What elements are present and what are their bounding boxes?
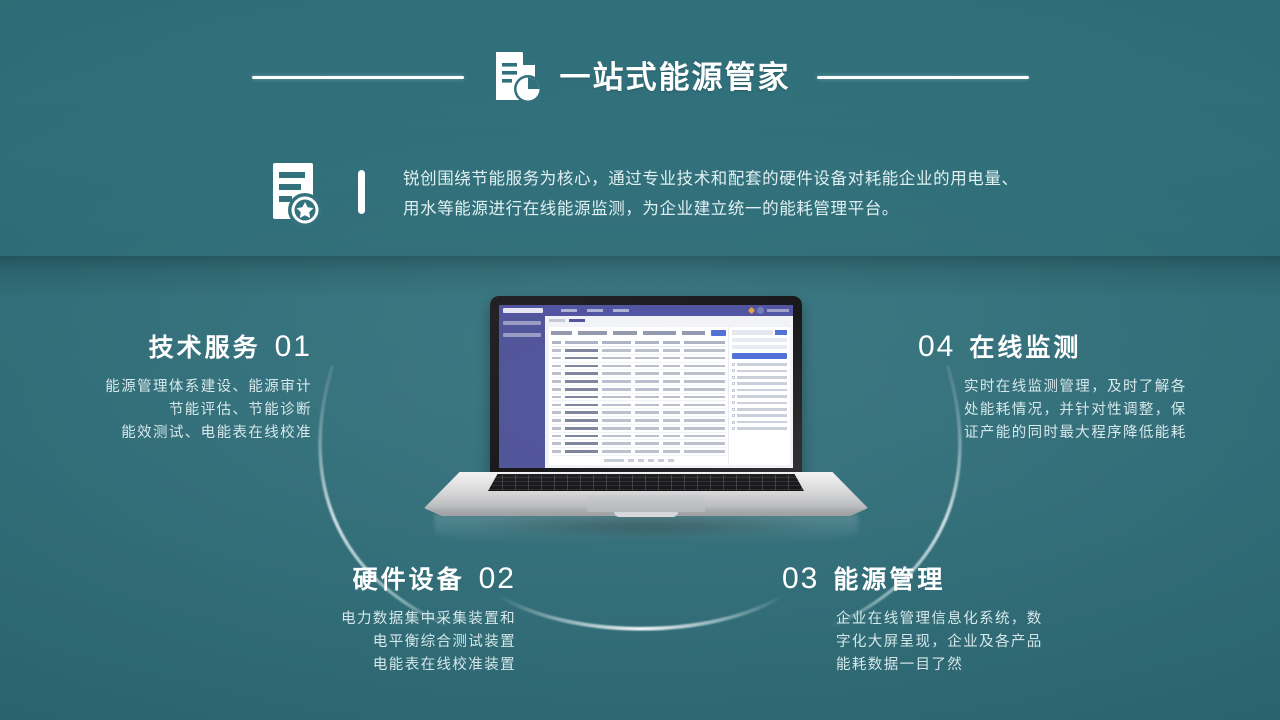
pagination-page[interactable] xyxy=(638,459,644,462)
column-header xyxy=(684,341,725,344)
feature-line: 电能表在线校准装置 xyxy=(186,654,516,677)
aside-checkbox-item[interactable] xyxy=(732,389,787,392)
dashboard-main xyxy=(545,316,793,468)
aside-checkbox-item[interactable] xyxy=(732,363,787,366)
laptop-reflection xyxy=(434,514,858,544)
table-row[interactable] xyxy=(551,378,726,386)
feature-number-03: 03 xyxy=(782,562,819,596)
table-row[interactable] xyxy=(551,347,726,355)
feature-line: 证产能的同时最大程序降低能耗 xyxy=(964,422,1258,445)
pagination-page[interactable] xyxy=(668,459,674,462)
divider-line-right-icon xyxy=(817,76,1029,79)
nav-item[interactable] xyxy=(613,309,629,312)
table-header-row xyxy=(551,339,726,347)
feature-heading-02: 硬件设备 02 xyxy=(186,560,516,596)
aside-search[interactable] xyxy=(732,330,787,335)
data-table-area xyxy=(549,327,728,465)
checkbox[interactable] xyxy=(732,363,735,366)
aside-select[interactable] xyxy=(732,345,787,349)
filter-field[interactable] xyxy=(613,331,638,335)
column-header xyxy=(663,341,681,344)
aside-primary-button[interactable] xyxy=(732,353,787,359)
aside-checkbox-item[interactable] xyxy=(732,376,787,379)
dashboard-user-area[interactable] xyxy=(749,307,789,314)
dashboard-nav xyxy=(561,309,629,312)
checkbox[interactable] xyxy=(732,421,735,424)
feature-name-03: 能源管理 xyxy=(833,560,945,596)
edit-icon[interactable] xyxy=(748,307,755,314)
laptop-keyboard xyxy=(488,474,804,491)
table-row[interactable] xyxy=(551,394,726,402)
page-header: 一站式能源管家 xyxy=(0,46,1280,108)
aside-checkbox-item[interactable] xyxy=(732,408,787,411)
dashboard-aside-filter xyxy=(728,327,790,465)
feature-number-02: 02 xyxy=(479,562,516,596)
search-button[interactable] xyxy=(711,330,726,336)
feature-body-02: 电力数据集中采集装置和 电平衡综合测试装置 电能表在线校准装置 xyxy=(186,608,516,677)
feature-line: 实时在线监测管理，及时了解各 xyxy=(964,376,1258,399)
dashboard-panel xyxy=(549,327,790,465)
aside-checkbox-item[interactable] xyxy=(732,369,787,372)
nav-item[interactable] xyxy=(561,309,577,312)
feature-body-03: 企业在线管理信息化系统，数 字化大屏呈现，企业及各产品 能耗数据一目了然 xyxy=(782,608,1112,677)
dashboard-body xyxy=(499,316,793,468)
pagination-info xyxy=(604,459,624,462)
page-title: 一站式能源管家 xyxy=(560,62,791,93)
table-row[interactable] xyxy=(551,433,726,441)
filter-field[interactable] xyxy=(682,331,705,335)
column-header xyxy=(565,341,598,344)
feature-block-01: 技术服务 01 能源管理体系建设、能源审计 节能评估、节能诊断 能效测试、电能表… xyxy=(12,328,312,445)
feature-line: 能效测试、电能表在线校准 xyxy=(12,422,312,445)
table-row[interactable] xyxy=(551,409,726,417)
breadcrumb-item[interactable] xyxy=(549,319,565,322)
intro-line-2: 用水等能源进行在线能源监测，为企业建立统一的能耗管理平台。 xyxy=(403,194,1019,224)
table-row[interactable] xyxy=(551,370,726,378)
filter-field[interactable] xyxy=(578,331,607,335)
table-row[interactable] xyxy=(551,440,726,448)
laptop-screen xyxy=(499,305,793,468)
checkbox[interactable] xyxy=(732,408,735,411)
checkbox[interactable] xyxy=(732,401,735,404)
feature-number-01: 01 xyxy=(275,330,312,364)
feature-name-02: 硬件设备 xyxy=(353,560,465,596)
breadcrumb xyxy=(549,319,790,324)
aside-checkbox-item[interactable] xyxy=(732,414,787,417)
feature-name-01: 技术服务 xyxy=(149,328,261,364)
table-row[interactable] xyxy=(551,355,726,363)
checkbox[interactable] xyxy=(732,395,735,398)
feature-heading-04: 04 在线监测 xyxy=(918,328,1258,364)
document-pie-chart-icon xyxy=(492,48,544,106)
aside-checkbox-item[interactable] xyxy=(732,421,787,424)
feature-block-02: 硬件设备 02 电力数据集中采集装置和 电平衡综合测试装置 电能表在线校准装置 xyxy=(186,560,516,677)
search-input[interactable] xyxy=(732,330,773,335)
table-row[interactable] xyxy=(551,363,726,371)
filter-label[interactable] xyxy=(551,331,572,335)
nav-item[interactable] xyxy=(587,309,603,312)
table-row[interactable] xyxy=(551,448,726,456)
aside-checkbox-item[interactable] xyxy=(732,382,787,385)
laptop-mockup xyxy=(424,296,868,528)
dashboard-sidebar xyxy=(499,316,545,468)
intro-line-1: 锐创围绕节能服务为核心，通过专业技术和配套的硬件设备对耗能企业的用电量、 xyxy=(403,164,1019,194)
intro-separator-bar xyxy=(358,170,365,214)
column-header xyxy=(635,341,658,344)
table-row[interactable] xyxy=(551,425,726,433)
filter-field[interactable] xyxy=(643,331,675,335)
feature-line: 字化大屏呈现，企业及各产品 xyxy=(836,631,1112,654)
table-pagination[interactable] xyxy=(551,456,726,462)
column-header xyxy=(552,341,561,344)
feature-line: 企业在线管理信息化系统，数 xyxy=(836,608,1112,631)
search-submit-button[interactable] xyxy=(775,330,787,335)
table-row[interactable] xyxy=(551,417,726,425)
divider-line-left-icon xyxy=(252,76,464,79)
sidebar-item[interactable] xyxy=(503,321,541,325)
feature-body-04: 实时在线监测管理，及时了解各 处能耗情况，并针对性调整，保 证产能的同时最大程序… xyxy=(918,376,1258,445)
aside-checkbox-item[interactable] xyxy=(732,395,787,398)
feature-line: 电平衡综合测试装置 xyxy=(186,631,516,654)
feature-block-04: 04 在线监测 实时在线监测管理，及时了解各 处能耗情况，并针对性调整，保 证产… xyxy=(918,328,1258,445)
username-label xyxy=(767,309,789,312)
checkbox[interactable] xyxy=(732,427,735,430)
feature-heading-03: 03 能源管理 xyxy=(782,560,1112,596)
feature-line: 能源管理体系建设、能源审计 xyxy=(12,376,312,399)
feature-line: 电力数据集中采集装置和 xyxy=(186,608,516,631)
aside-checkbox-item[interactable] xyxy=(732,427,787,430)
checkbox[interactable] xyxy=(732,389,735,392)
feature-body-01: 能源管理体系建设、能源审计 节能评估、节能诊断 能效测试、电能表在线校准 xyxy=(12,376,312,445)
checkbox[interactable] xyxy=(732,382,735,385)
dashboard-logo xyxy=(503,308,543,313)
aside-select[interactable] xyxy=(732,338,787,342)
pagination-page[interactable] xyxy=(658,459,664,462)
feature-line: 处能耗情况，并针对性调整，保 xyxy=(964,399,1258,422)
dashboard-topbar xyxy=(499,305,793,316)
feature-block-03: 03 能源管理 企业在线管理信息化系统，数 字化大屏呈现，企业及各产品 能耗数据… xyxy=(782,560,1112,677)
aside-checkbox-item[interactable] xyxy=(732,401,787,404)
laptop-lid xyxy=(490,296,802,478)
column-header xyxy=(602,341,631,344)
table-row[interactable] xyxy=(551,401,726,409)
feature-name-04: 在线监测 xyxy=(969,328,1081,364)
feature-number-04: 04 xyxy=(918,330,955,364)
intro-text: 锐创围绕节能服务为核心，通过专业技术和配套的硬件设备对耗能企业的用电量、 用水等… xyxy=(403,158,1019,224)
breadcrumb-item-active xyxy=(569,319,585,322)
feature-line: 能耗数据一目了然 xyxy=(836,654,1112,677)
laptop-trackpad xyxy=(587,495,705,512)
certificate-star-icon xyxy=(268,160,330,234)
feature-heading-01: 技术服务 01 xyxy=(12,328,312,364)
sidebar-item[interactable] xyxy=(503,333,541,337)
checkbox[interactable] xyxy=(732,369,735,372)
pagination-page[interactable] xyxy=(648,459,654,462)
feature-line: 节能评估、节能诊断 xyxy=(12,399,312,422)
checkbox[interactable] xyxy=(732,376,735,379)
table-filters xyxy=(551,330,726,336)
avatar[interactable] xyxy=(757,307,764,314)
table-row[interactable] xyxy=(551,386,726,394)
checkbox[interactable] xyxy=(732,414,735,417)
pagination-page[interactable] xyxy=(628,459,634,462)
intro-block: 锐创围绕节能服务为核心，通过专业技术和配套的硬件设备对耗能企业的用电量、 用水等… xyxy=(268,158,1218,240)
